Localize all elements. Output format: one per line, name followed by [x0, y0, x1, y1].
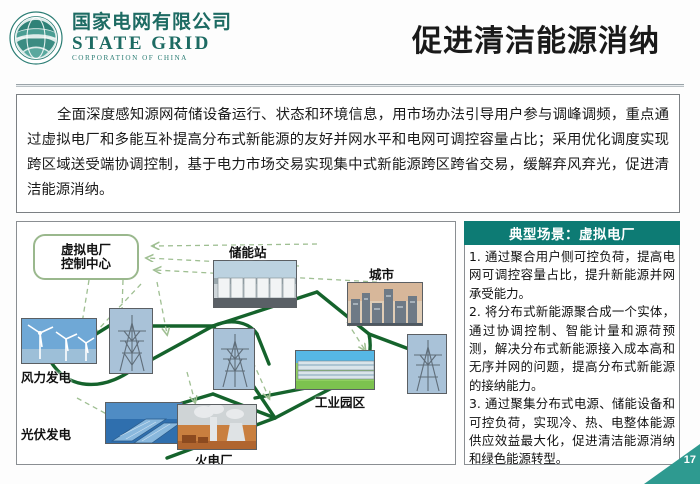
page-title: 促进清洁能源消纳 — [380, 14, 692, 62]
vpp-control-center-node: 虚拟电厂 控制中心 — [33, 234, 139, 280]
industrial-park-photo-icon — [295, 350, 375, 390]
solar-panel-photo-icon — [105, 402, 183, 444]
node-label-industrial-park: 工业园区 — [315, 392, 365, 411]
vpp-control-center-line1: 虚拟电厂 — [61, 243, 111, 257]
summary-paragraph-box: 全面深度感知源网荷储设备运行、状态和环境信息，用市场办法引导用户参与调峰调频，重… — [16, 94, 680, 213]
thermal-power-plant-photo-icon — [177, 404, 257, 450]
transmission-tower-photo-3-icon — [407, 334, 447, 394]
node-label-wind-power: 风力发电 — [21, 367, 71, 386]
node-label-city: 城市 — [369, 264, 394, 283]
state-grid-logo: 国家电网有限公司 STATE GRID CORPORATION OF CHINA — [8, 8, 276, 68]
logo-english-name: STATE GRID — [72, 34, 232, 53]
city-skyline-photo-icon — [347, 282, 423, 326]
page-number-corner: 17 — [644, 444, 700, 484]
state-grid-logo-text: 国家电网有限公司 STATE GRID CORPORATION OF CHINA — [72, 13, 232, 62]
scene-item-1: 1. 通过聚合用户侧可控负荷，提高电网可调控容量占比，提升新能源并网承受能力。 — [469, 248, 675, 303]
typical-scene-body: 1. 通过聚合用户侧可控负荷，提高电网可调控容量占比，提升新能源并网承受能力。 … — [464, 245, 680, 465]
header-divider — [16, 84, 684, 87]
slide-header: 国家电网有限公司 STATE GRID CORPORATION OF CHINA… — [0, 0, 700, 78]
transmission-tower-photo-1-icon — [109, 308, 153, 374]
typical-scene-panel: 典型场景：虚拟电厂 1. 通过聚合用户侧可控负荷，提高电网可调控容量占比，提升新… — [464, 221, 680, 465]
page-number: 17 — [684, 454, 696, 466]
wind-turbines-photo-icon — [21, 318, 97, 364]
logo-english-subtitle: CORPORATION OF CHINA — [72, 55, 232, 62]
node-label-solar-power: 光伏发电 — [21, 424, 71, 443]
vpp-control-center-line2: 控制中心 — [61, 257, 111, 271]
logo-chinese-name: 国家电网有限公司 — [72, 13, 232, 32]
typical-scene-heading: 典型场景：虚拟电厂 — [464, 221, 680, 245]
state-grid-globe-logo-icon — [8, 10, 64, 66]
battery-storage-station-photo-icon — [213, 260, 297, 308]
virtual-power-plant-diagram: 虚拟电厂 控制中心 储能站 — [16, 221, 456, 465]
scene-item-2: 2. 将分布式新能源聚合成一个实体，通过协调控制、智能计量和源荷预测，解决分布式… — [469, 303, 675, 395]
summary-paragraph-text: 全面深度感知源网荷储设备运行、状态和环境信息，用市场办法引导用户参与调峰调频，重… — [27, 103, 669, 203]
transmission-tower-photo-2-icon — [213, 328, 255, 390]
node-label-thermal-plant: 火电厂 — [195, 450, 233, 465]
slide-root: 国家电网有限公司 STATE GRID CORPORATION OF CHINA… — [0, 0, 700, 484]
node-label-storage-station: 储能站 — [229, 242, 267, 261]
